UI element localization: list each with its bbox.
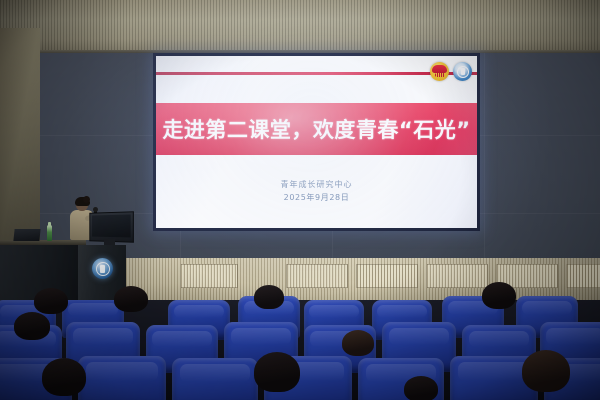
seat — [172, 358, 258, 400]
slide-header-rule — [156, 72, 477, 75]
wall-vent-panel — [566, 264, 600, 288]
attendee-head — [42, 358, 86, 396]
attendee-head — [14, 312, 50, 340]
slide-title: 走进第二课堂，欢度青春“石光” — [162, 114, 470, 144]
slide-date: 2025年9月28日 — [156, 191, 477, 204]
auditorium-scene: 走进第二课堂，欢度青春“石光” 青年成长研究中心 2025年9月28日 — [0, 0, 600, 400]
laptop — [13, 229, 40, 241]
institution-crest-icon — [453, 62, 472, 81]
presenter-hair-bun — [83, 196, 90, 203]
projection-screen: 走进第二课堂，欢度青春“石光” 青年成长研究中心 2025年9月28日 — [156, 56, 477, 228]
attendee-head — [404, 376, 438, 400]
water-bottle — [47, 225, 52, 241]
wall-vent-panel — [356, 264, 418, 288]
upper-wall-acoustic-panel — [0, 0, 600, 52]
slide-subtitle-block: 青年成长研究中心 2025年9月28日 — [156, 178, 477, 204]
attendee-head — [342, 330, 374, 356]
slide-title-band: 走进第二课堂，欢度青春“石光” — [156, 103, 477, 155]
slide-logo-group — [430, 62, 472, 81]
wall-vent-panel — [180, 264, 238, 288]
attendee-head — [522, 350, 570, 392]
seat — [78, 356, 166, 400]
slide-organization: 青年成长研究中心 — [156, 178, 477, 191]
attendee-head — [254, 285, 284, 309]
wall-vent-panel — [426, 264, 488, 288]
projection-screen-frame: 走进第二课堂，欢度青春“石光” 青年成长研究中心 2025年9月28日 — [153, 53, 480, 231]
attendee-head — [254, 352, 300, 392]
wall-vent-panel — [286, 264, 348, 288]
communist-youth-league-emblem-icon — [430, 62, 449, 81]
attendee-head — [114, 286, 148, 312]
attendee-head — [482, 282, 516, 309]
attendee-head — [34, 288, 68, 314]
podium-institution-seal-icon — [92, 258, 113, 279]
confidence-monitor-screen — [92, 214, 131, 237]
